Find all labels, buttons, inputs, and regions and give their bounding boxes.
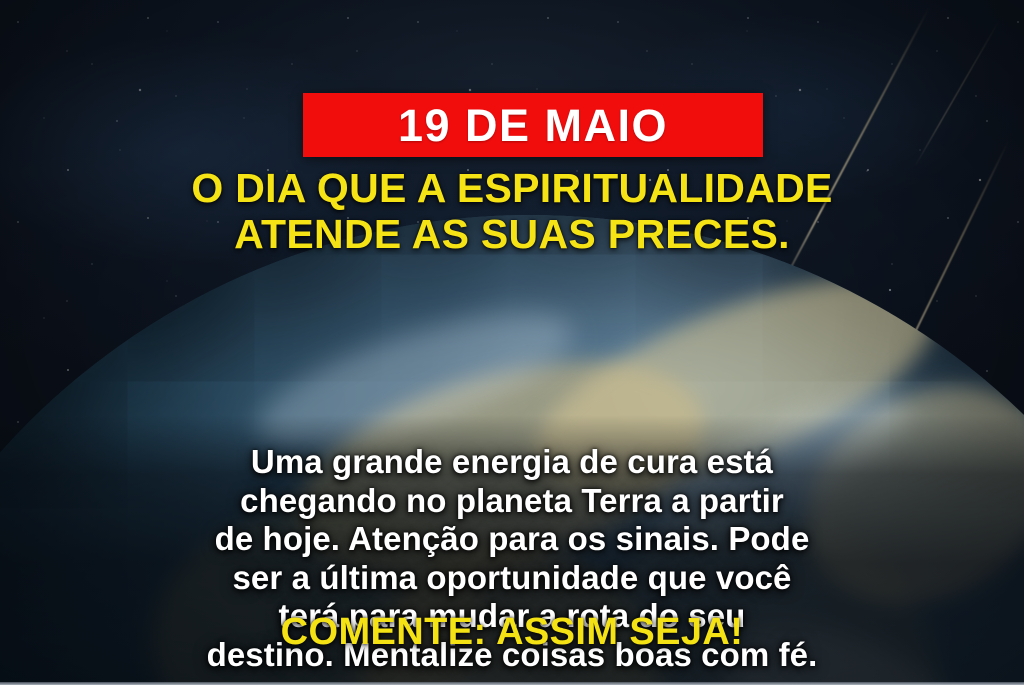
headline-line-1: O DIA QUE A ESPIRITUALIDADE <box>0 166 1024 212</box>
body-line-3: de hoje. Atenção para os sinais. Pode <box>0 520 1024 559</box>
call-to-action-text: COMENTE: ASSIM SEJA! <box>0 612 1024 654</box>
date-banner: 19 DE MAIO <box>303 93 763 157</box>
headline: O DIA QUE A ESPIRITUALIDADE ATENDE AS SU… <box>0 166 1024 258</box>
poster-canvas: 19 DE MAIO O DIA QUE A ESPIRITUALIDADE A… <box>0 0 1024 685</box>
poster-content: 19 DE MAIO O DIA QUE A ESPIRITUALIDADE A… <box>0 0 1024 685</box>
body-line-1: Uma grande energia de cura está <box>0 443 1024 482</box>
headline-line-2: ATENDE AS SUAS PRECES. <box>0 212 1024 258</box>
body-line-4: ser a última oportunidade que você <box>0 559 1024 598</box>
date-banner-label: 19 DE MAIO <box>398 103 668 148</box>
body-line-2: chegando no planeta Terra a partir <box>0 482 1024 521</box>
